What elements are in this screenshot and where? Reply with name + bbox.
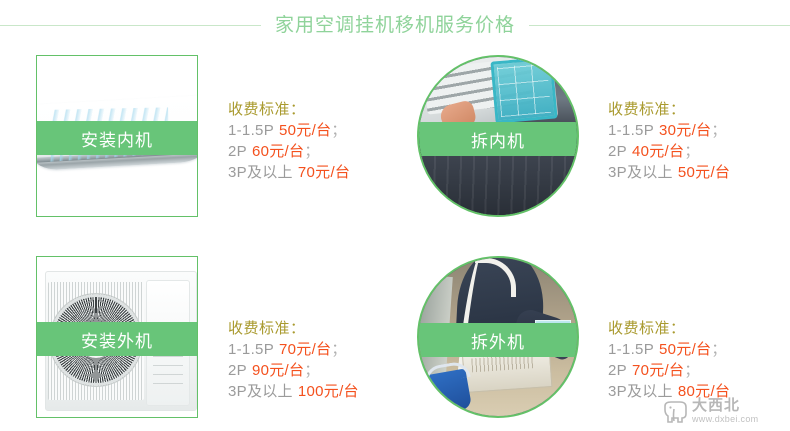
price-amount: 30元/台 xyxy=(659,122,711,139)
elephant-logo-icon xyxy=(662,400,688,424)
price-spec: 1-1.5P xyxy=(228,341,274,358)
label-remove-outdoor: 拆外机 xyxy=(417,323,579,357)
price-spec: 2P xyxy=(608,362,627,379)
ac-filter-icon xyxy=(490,56,557,123)
photo-remove-indoor: 拆内机 xyxy=(417,55,579,217)
card-install-outdoor: 安装外机 xyxy=(36,256,198,418)
price-row: 1-1.5P70元/台； xyxy=(228,339,359,360)
label-install-indoor-text: 安装内机 xyxy=(81,126,153,151)
label-install-outdoor: 安装外机 xyxy=(36,322,198,356)
price-heading-install-outdoor: 收费标准： xyxy=(228,318,359,339)
label-remove-outdoor-text: 拆外机 xyxy=(471,328,525,353)
card-remove-indoor: 拆内机 xyxy=(417,55,579,217)
price-spec: 3P及以上 xyxy=(608,164,673,181)
price-amount: 90元/台 xyxy=(252,362,304,379)
prices-install-indoor: 收费标准： 1-1.5P50元/台； 2P60元/台； 3P及以上70元/台 xyxy=(228,99,350,183)
header-rule-right xyxy=(529,25,790,26)
price-heading-remove-outdoor: 收费标准： xyxy=(608,318,730,339)
header-rule-left xyxy=(0,25,261,26)
prices-remove-outdoor: 收费标准： 1-1.5P50元/台； 2P70元/台； 3P及以上80元/台 xyxy=(608,318,730,402)
price-separator: ； xyxy=(304,362,319,379)
label-install-outdoor-text: 安装外机 xyxy=(81,327,153,352)
watermark-brand: 大西北 xyxy=(692,399,758,414)
label-remove-indoor-text: 拆内机 xyxy=(471,127,525,152)
price-amount: 60元/台 xyxy=(252,143,304,160)
price-row: 2P70元/台； xyxy=(608,360,730,381)
price-separator: ； xyxy=(711,341,726,358)
blue-bucket-icon xyxy=(422,368,472,415)
price-spec: 2P xyxy=(228,143,247,160)
price-heading-remove-indoor: 收费标准： xyxy=(608,99,730,120)
price-separator: ； xyxy=(331,122,346,139)
watermark-url: www.dxbei.com xyxy=(692,414,758,425)
card-remove-outdoor: 拆外机 xyxy=(417,256,579,418)
label-install-indoor: 安装内机 xyxy=(36,121,198,155)
price-separator: ； xyxy=(711,122,726,139)
price-row: 1-1.5P30元/台； xyxy=(608,120,730,141)
price-spec: 3P及以上 xyxy=(228,164,293,181)
page-title: 家用空调挂机移机服务价格 xyxy=(261,16,529,35)
price-separator: ； xyxy=(304,143,319,160)
price-spec: 3P及以上 xyxy=(228,383,293,400)
watermark: 大西北 www.dxbei.com xyxy=(662,397,782,427)
prices-remove-indoor: 收费标准： 1-1.5P30元/台； 2P40元/台； 3P及以上50元/台 xyxy=(608,99,730,183)
page-header: 家用空调挂机移机服务价格 xyxy=(0,8,790,42)
card-install-indoor: 安装内机 xyxy=(36,55,198,217)
price-separator: ； xyxy=(684,362,699,379)
price-spec: 1-1.5P xyxy=(608,341,654,358)
photo-remove-outdoor: 拆外机 xyxy=(417,256,579,418)
price-amount: 70元/台 xyxy=(279,341,331,358)
price-heading-install-indoor: 收费标准： xyxy=(228,99,350,120)
photo-install-indoor: 安装内机 xyxy=(36,55,198,217)
price-amount: 50元/台 xyxy=(659,341,711,358)
price-spec: 2P xyxy=(608,143,627,160)
price-amount: 100元/台 xyxy=(298,383,359,400)
price-row: 1-1.5P50元/台； xyxy=(228,120,350,141)
price-separator: ； xyxy=(331,341,346,358)
price-row: 2P40元/台； xyxy=(608,141,730,162)
price-amount: 70元/台 xyxy=(298,164,350,181)
price-row: 3P及以上70元/台 xyxy=(228,162,350,183)
price-row: 2P60元/台； xyxy=(228,141,350,162)
watermark-text-group: 大西北 www.dxbei.com xyxy=(692,399,758,425)
price-row: 3P及以上100元/台 xyxy=(228,381,359,402)
price-amount: 70元/台 xyxy=(632,362,684,379)
price-row: 3P及以上50元/台 xyxy=(608,162,730,183)
label-remove-indoor: 拆内机 xyxy=(417,122,579,156)
price-amount: 40元/台 xyxy=(632,143,684,160)
photo-install-outdoor: 安装外机 xyxy=(36,256,198,418)
prices-install-outdoor: 收费标准： 1-1.5P70元/台； 2P90元/台； 3P及以上100元/台 xyxy=(228,318,359,402)
price-row: 1-1.5P50元/台； xyxy=(608,339,730,360)
price-amount: 50元/台 xyxy=(279,122,331,139)
price-row: 2P90元/台； xyxy=(228,360,359,381)
price-spec: 2P xyxy=(228,362,247,379)
price-amount: 50元/台 xyxy=(678,164,730,181)
price-separator: ； xyxy=(684,143,699,160)
price-spec: 1-1.5P xyxy=(608,122,654,139)
price-spec: 1-1.5P xyxy=(228,122,274,139)
